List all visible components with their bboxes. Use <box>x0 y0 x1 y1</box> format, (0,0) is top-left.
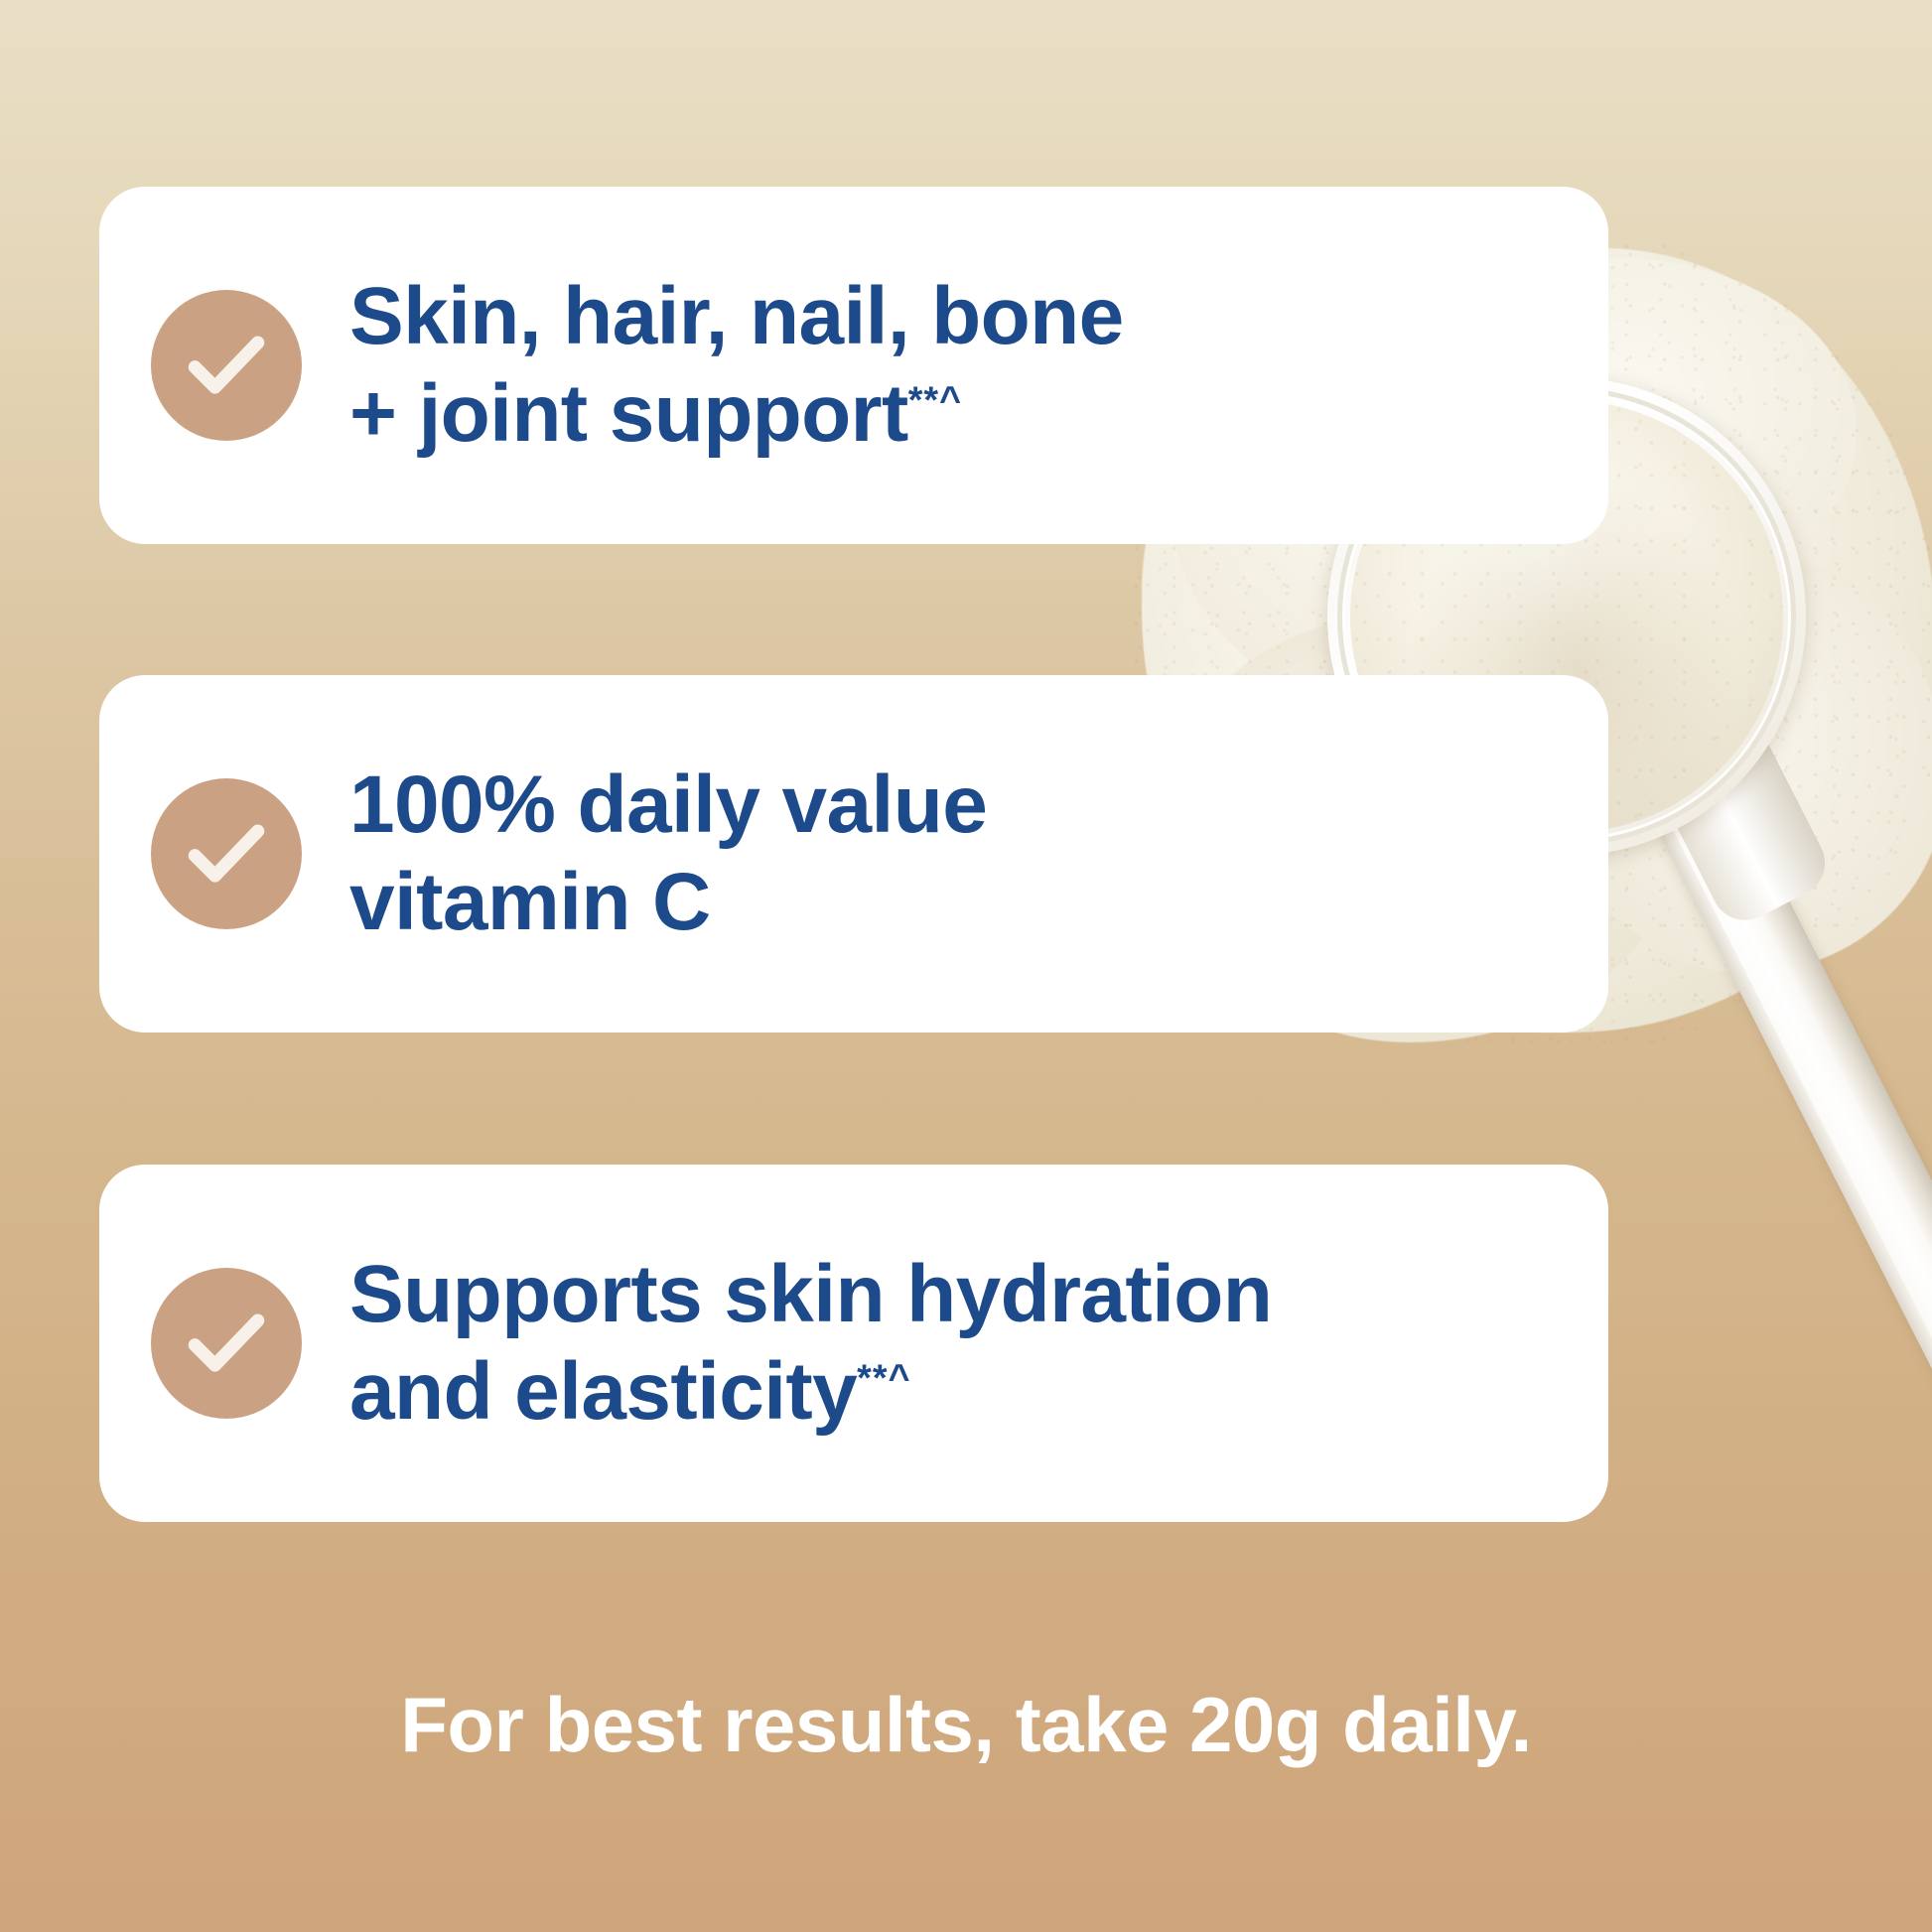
check-badge <box>151 1268 302 1419</box>
benefit-line-1: 100% daily value <box>349 759 987 850</box>
benefit-card-vitamin-c: 100% daily valuevitamin C <box>99 675 1608 1033</box>
benefit-superscript: **^ <box>857 1357 910 1399</box>
benefit-line-1: Supports skin hydration <box>349 1249 1272 1339</box>
footer-usage-note: For best results, take 20g daily. <box>0 1680 1932 1770</box>
benefit-card-skin-hydration-elasticity: Supports skin hydrationand elasticity**^ <box>99 1165 1608 1522</box>
scoop-handle-highlight <box>1601 681 1932 1776</box>
check-icon <box>183 1300 270 1387</box>
benefit-text: Supports skin hydrationand elasticity**^ <box>349 1246 1272 1442</box>
benefit-superscript: **^ <box>908 379 962 421</box>
benefit-line-1: Skin, hair, nail, bone <box>349 271 1124 361</box>
scoop-handle <box>1579 635 1932 1842</box>
benefit-line-2: + joint support <box>349 368 908 459</box>
check-badge <box>151 290 302 441</box>
check-icon <box>183 810 270 897</box>
promo-graphic: Skin, hair, nail, bone+ joint support**^… <box>0 0 1932 1932</box>
check-badge <box>151 778 302 929</box>
benefit-text: Skin, hair, nail, bone+ joint support**^ <box>349 268 1124 464</box>
benefit-line-2: and elasticity <box>349 1346 857 1437</box>
scoop-neck <box>1658 736 1837 931</box>
benefit-card-skin-hair-nail-bone-joint: Skin, hair, nail, bone+ joint support**^ <box>99 187 1608 544</box>
benefit-text: 100% daily valuevitamin C <box>349 757 987 952</box>
benefit-line-2: vitamin C <box>349 857 711 947</box>
check-icon <box>183 322 270 409</box>
